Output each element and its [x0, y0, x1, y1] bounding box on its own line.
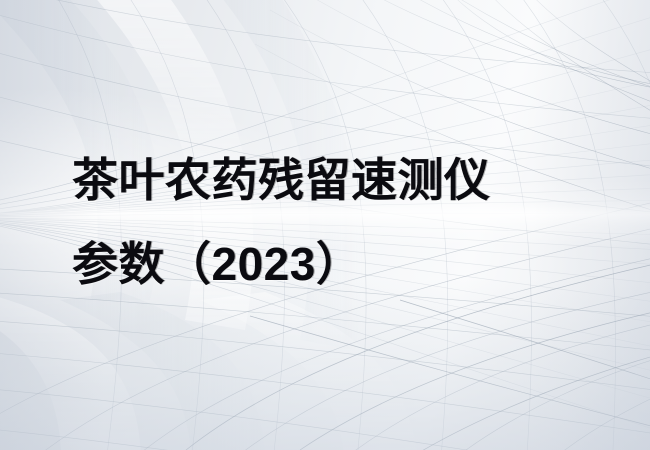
banner-title-line-1: 茶叶农药残留速测仪: [72, 138, 612, 222]
title-banner: 茶叶农药残留速测仪 参数（2023）: [0, 0, 650, 450]
banner-title-line-2: 参数（2023）: [72, 222, 612, 306]
banner-title: 茶叶农药残留速测仪 参数（2023）: [72, 138, 612, 306]
ribbon-group-lower: [0, 292, 420, 450]
